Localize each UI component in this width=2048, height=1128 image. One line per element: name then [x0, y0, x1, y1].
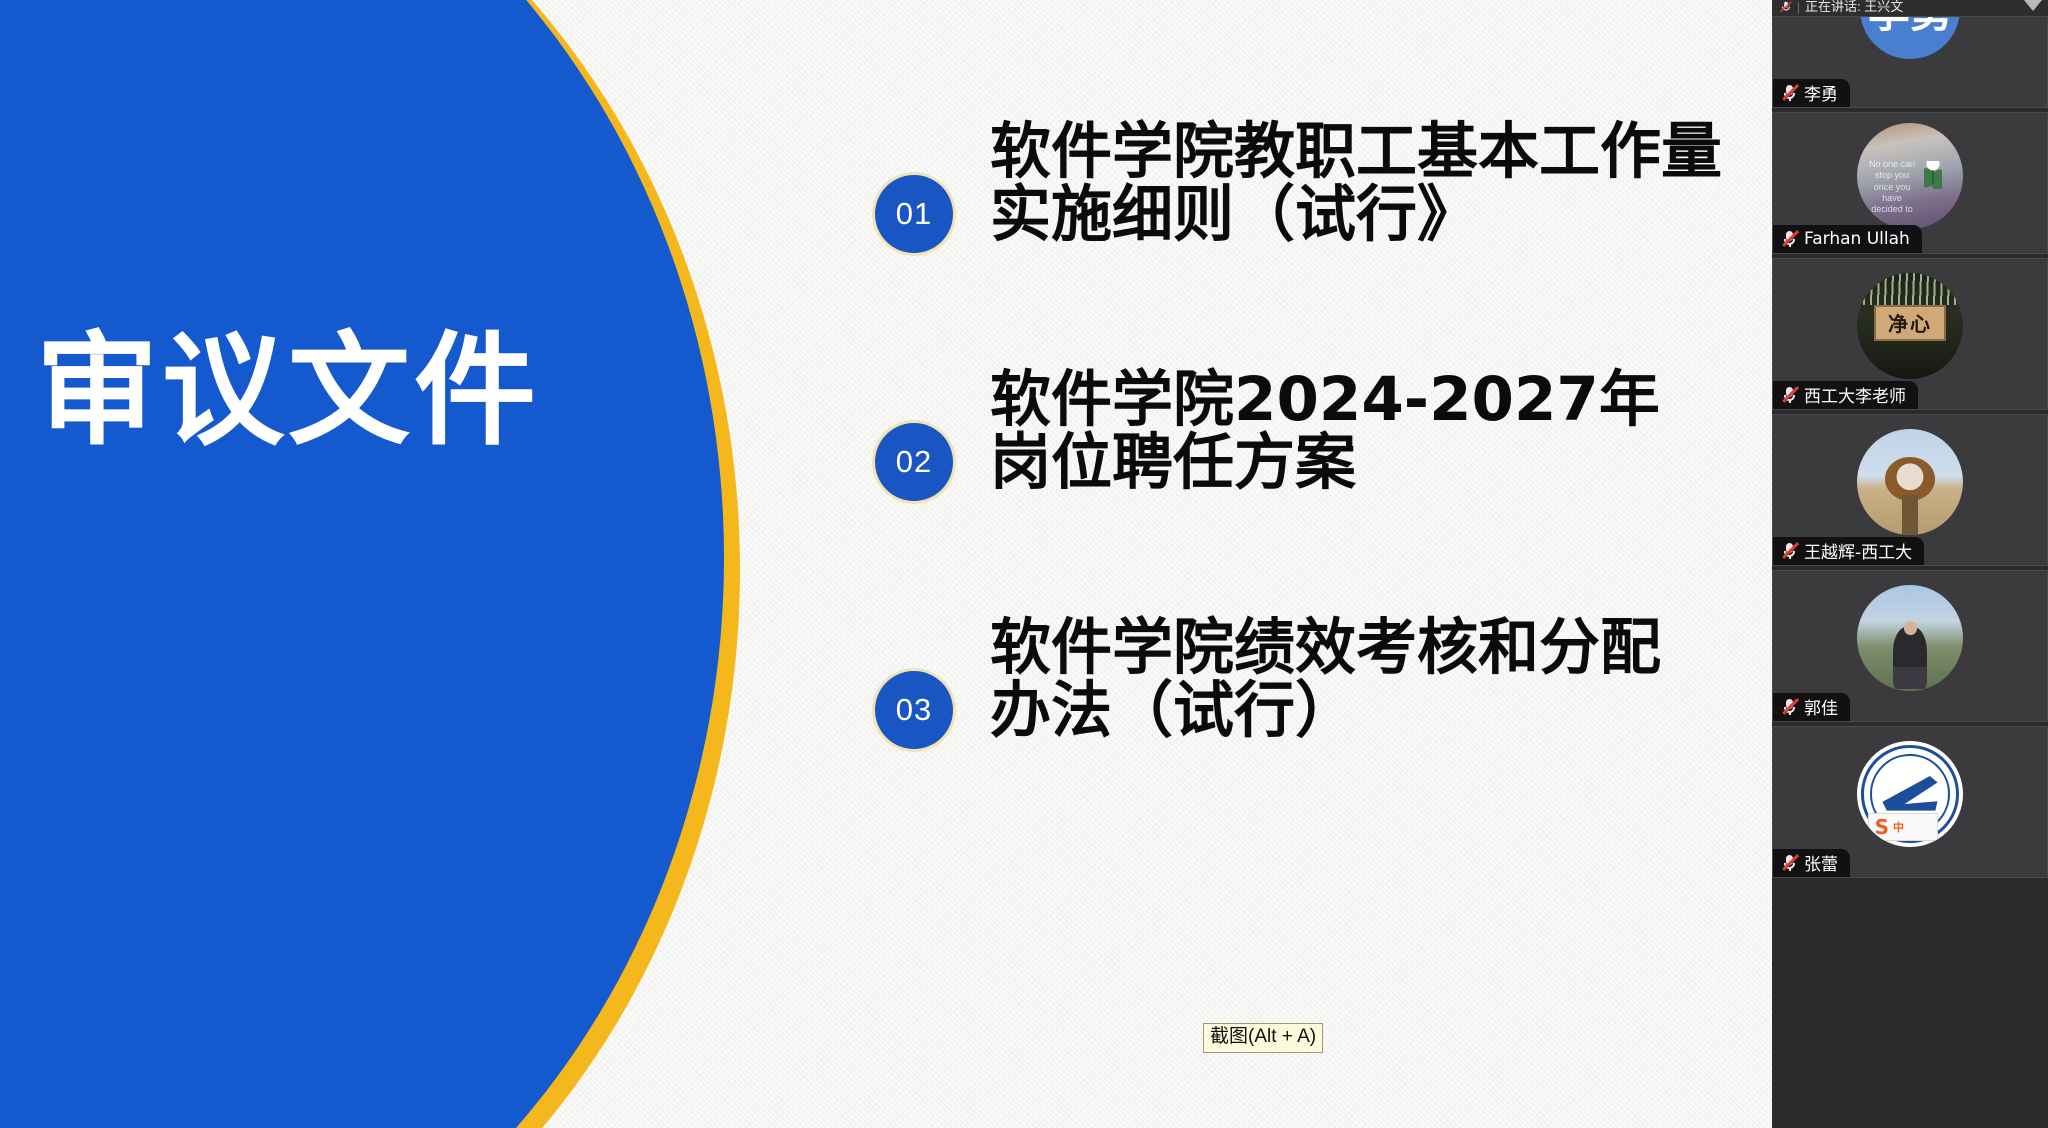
- mic-muted-icon: [1781, 542, 1798, 559]
- mic-muted-icon: [1781, 698, 1798, 715]
- avatar: No one can stop you once you have decide…: [1857, 123, 1963, 229]
- participant-tile[interactable]: No one can stop you once you have decide…: [1772, 112, 2048, 254]
- shared-slide: 审议文件 01 软件学院教职工基本工作量 实施细则（试行》 02 软件学院202…: [0, 0, 1772, 1128]
- participant-name: 王越辉-西工大: [1804, 538, 1912, 563]
- active-speaker-bar[interactable]: 正在讲话: 王兴文: [1772, 0, 2048, 16]
- plant-sprout-icon: [1924, 161, 1942, 189]
- participant-tile[interactable]: 净心 西工大李老师: [1772, 258, 2048, 410]
- mic-muted-icon: [1781, 854, 1798, 871]
- avatar-sign-text: 净心: [1874, 305, 1946, 341]
- agenda-number-badge: 02: [872, 420, 956, 504]
- participant-namebar: 李勇: [1773, 79, 1850, 107]
- screenshot-tooltip: 截图(Alt + A): [1203, 1023, 1323, 1053]
- participant-tile[interactable]: 郭佳: [1772, 570, 2048, 722]
- avatar: S 中: [1857, 741, 1963, 847]
- wooden-post: [1902, 495, 1919, 535]
- agenda-list: 01 软件学院教职工基本工作量 实施细则（试行》 02 软件学院2024-202…: [872, 120, 1772, 864]
- agenda-item-03: 03 软件学院绩效考核和分配 办法（试行）: [872, 616, 1772, 812]
- avatar-initial-text: 李勇: [1860, 16, 1960, 59]
- participant-tile[interactable]: 李勇 李勇: [1772, 16, 2048, 108]
- participant-name: 张蕾: [1804, 850, 1838, 875]
- avatar: 净心: [1857, 273, 1963, 379]
- participant-namebar: 张蕾: [1773, 849, 1850, 877]
- agenda-number-badge: 03: [872, 668, 956, 752]
- participant-namebar: Farhan Ullah: [1773, 225, 1922, 253]
- ime-badge: S 中: [1868, 813, 1938, 841]
- participant-tile[interactable]: S 中 张蕾: [1772, 726, 2048, 878]
- participant-name: 郭佳: [1804, 694, 1838, 719]
- person-head: [1904, 621, 1918, 635]
- avatar-photo-sign: 净心: [1857, 273, 1963, 379]
- avatar: [1857, 585, 1963, 691]
- participant-namebar: 西工大李老师: [1773, 381, 1918, 409]
- avatar: [1857, 429, 1963, 535]
- grass-texture: [1857, 273, 1963, 305]
- sogou-s-icon: S: [1875, 817, 1889, 837]
- mic-muted-icon: [1781, 230, 1798, 247]
- ime-mode-label: 中: [1893, 819, 1905, 835]
- participant-namebar: 郭佳: [1773, 693, 1850, 721]
- screen-root: 审议文件 01 软件学院教职工基本工作量 实施细则（试行》 02 软件学院202…: [0, 0, 2048, 1128]
- agenda-number-badge: 01: [872, 172, 956, 256]
- participant-name: Farhan Ullah: [1804, 229, 1910, 249]
- avatar-photo-plant: No one can stop you once you have decide…: [1857, 123, 1963, 229]
- mic-muted-icon: [1781, 84, 1798, 101]
- page-title: 审议文件: [36, 318, 596, 464]
- agenda-item-text: 软件学院2024-2027年 岗位聘任方案: [990, 368, 1772, 495]
- mic-muted-icon: [1781, 386, 1798, 403]
- agenda-item-text: 软件学院教职工基本工作量 实施细则（试行》: [990, 120, 1772, 247]
- avatar: 李勇: [1860, 16, 1960, 59]
- participant-tile[interactable]: 王越辉-西工大: [1772, 414, 2048, 566]
- agenda-item-01: 01 软件学院教职工基本工作量 实施细则（试行》: [872, 120, 1772, 316]
- agenda-item-text: 软件学院绩效考核和分配 办法（试行）: [990, 616, 1772, 743]
- participant-name: 西工大李老师: [1804, 382, 1906, 407]
- avatar-photo-cat: [1857, 429, 1963, 535]
- participant-rail[interactable]: 正在讲话: 王兴文 李勇 李勇 No one can stop you once…: [1772, 0, 2048, 1128]
- agenda-item-02: 02 软件学院2024-2027年 岗位聘任方案: [872, 368, 1772, 564]
- active-speaker-label: 正在讲话: 王兴文: [1805, 0, 1903, 15]
- mic-muted-icon: [1780, 0, 1792, 12]
- participant-name: 李勇: [1804, 80, 1838, 105]
- avatar-university-logo: S 中: [1857, 741, 1963, 847]
- blue-blob-shape: [0, 0, 724, 1128]
- chevron-down-icon[interactable]: [2024, 0, 2042, 11]
- participant-namebar: 王越辉-西工大: [1773, 537, 1924, 565]
- avatar-photo-city: [1857, 585, 1963, 691]
- avatar-quote-text: No one can stop you once you have decide…: [1868, 159, 1917, 215]
- header-divider: [1798, 2, 1799, 14]
- person-silhouette: [1893, 627, 1927, 688]
